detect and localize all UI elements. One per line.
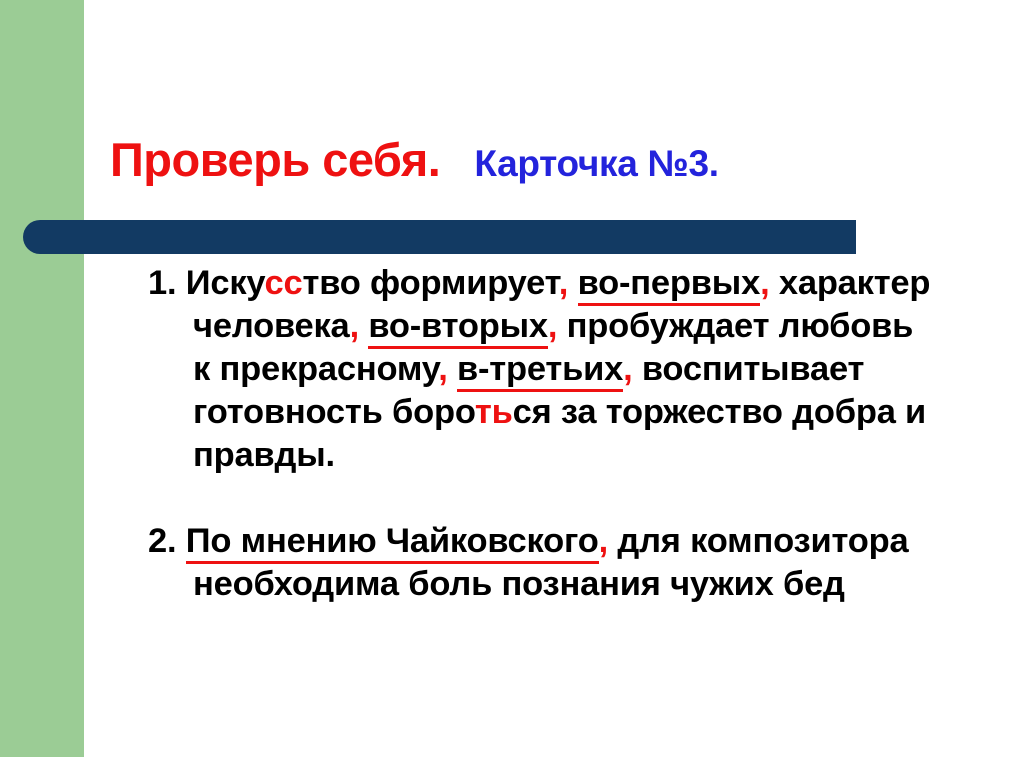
- body-text: [448, 350, 457, 388]
- red-underlined-phrase: во-вторых: [368, 307, 548, 349]
- body-text: [568, 264, 577, 302]
- slide-title-row: Проверь себя.Карточка №3.: [110, 132, 970, 196]
- highlighted-red-text: ,: [559, 264, 568, 302]
- body-text: Иску: [186, 264, 265, 302]
- navy-divider-bar: [23, 220, 856, 254]
- highlighted-red-text: ,: [548, 307, 557, 345]
- slide-canvas: Проверь себя.Карточка №3. 1. Искусство ф…: [0, 0, 1024, 767]
- page-title: Проверь себя.: [110, 133, 440, 186]
- red-underlined-phrase: в-третьих: [457, 350, 623, 392]
- left-green-accent-band: [0, 0, 84, 757]
- answers-list: 1. Искусство формирует, во-первых, харак…: [148, 262, 938, 606]
- list-marker: 2.: [148, 522, 186, 560]
- highlighted-red-text: сс: [265, 264, 303, 302]
- highlighted-red-text: ,: [350, 307, 359, 345]
- list-marker: 1.: [148, 264, 186, 302]
- body-text: [359, 307, 368, 345]
- highlighted-red-text: ,: [599, 522, 608, 560]
- highlighted-red-text: ,: [438, 350, 447, 388]
- red-underlined-phrase: По мнению Чайковского: [186, 522, 599, 564]
- red-underlined-phrase: во-первых: [578, 264, 760, 306]
- card-number-label: Карточка №3.: [474, 143, 718, 184]
- highlighted-red-text: ть: [475, 393, 513, 431]
- list-item: 2. По мнению Чайковского, для композитор…: [148, 520, 938, 606]
- list-item: 1. Искусство формирует, во-первых, харак…: [148, 262, 938, 477]
- body-text: тво формирует: [303, 264, 559, 302]
